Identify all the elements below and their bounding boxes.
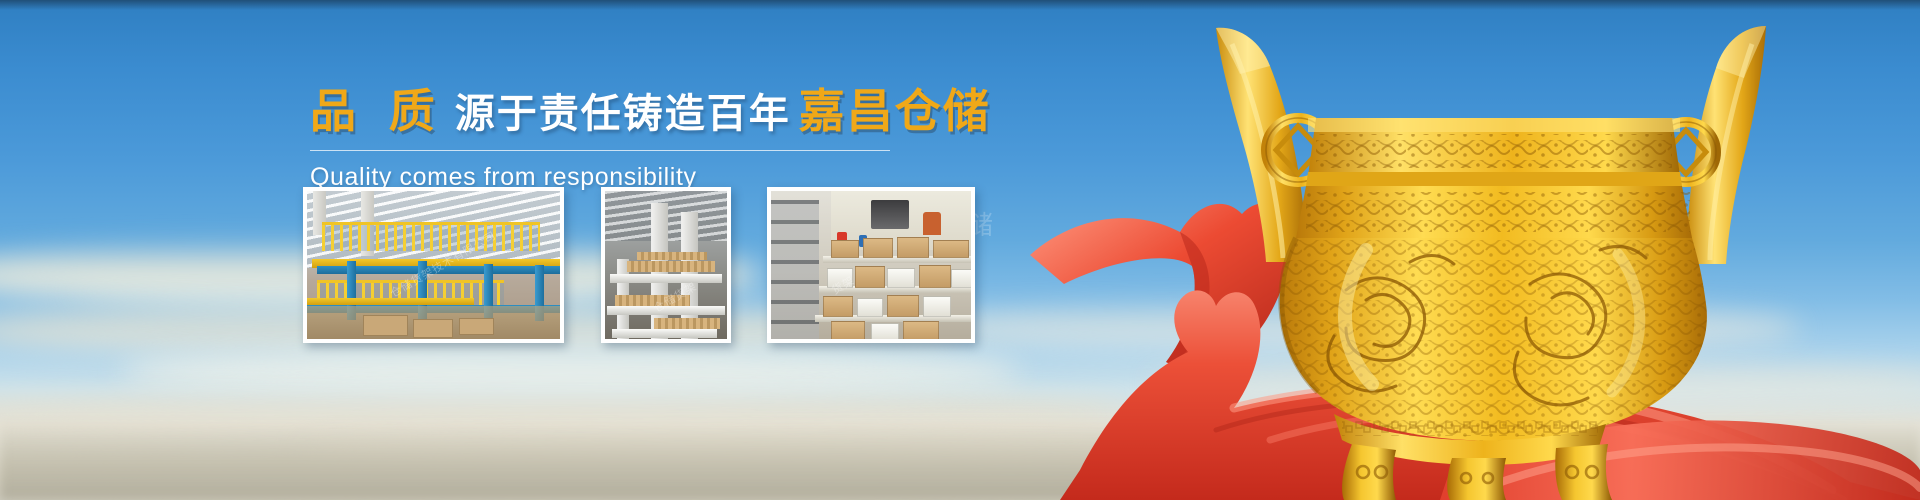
mezzanine-racking-photo[interactable]: 仓储货架技术有限公司 [303, 187, 564, 343]
golden-ding-cauldron [1120, 0, 1920, 500]
ding-rim [1306, 118, 1682, 186]
cantilever-racking-photo[interactable]: 仓储货架 [601, 187, 731, 343]
photo-strip: 仓储货架技术有限公司 仓储货架 [303, 187, 975, 343]
ding-shoulder-band [1296, 186, 1692, 238]
headline-white-middle: 源于责任铸造百年 [455, 92, 791, 136]
headline-gold-lead: 品 质 [310, 85, 445, 137]
ding-belly [1280, 238, 1707, 441]
promotional-banner: 嘉昌仓储 品 质源于责任铸造百年嘉昌仓储 Quality comes from … [0, 0, 1920, 500]
shelving-boxes-photo[interactable]: 货架 [767, 187, 975, 343]
headline: 品 质源于责任铸造百年嘉昌仓储 [310, 88, 1010, 134]
headline-gold-brand: 嘉昌仓储 [799, 85, 991, 137]
headline-block: 品 质源于责任铸造百年嘉昌仓储 Quality comes from respo… [310, 88, 1010, 192]
headline-divider [310, 150, 890, 151]
